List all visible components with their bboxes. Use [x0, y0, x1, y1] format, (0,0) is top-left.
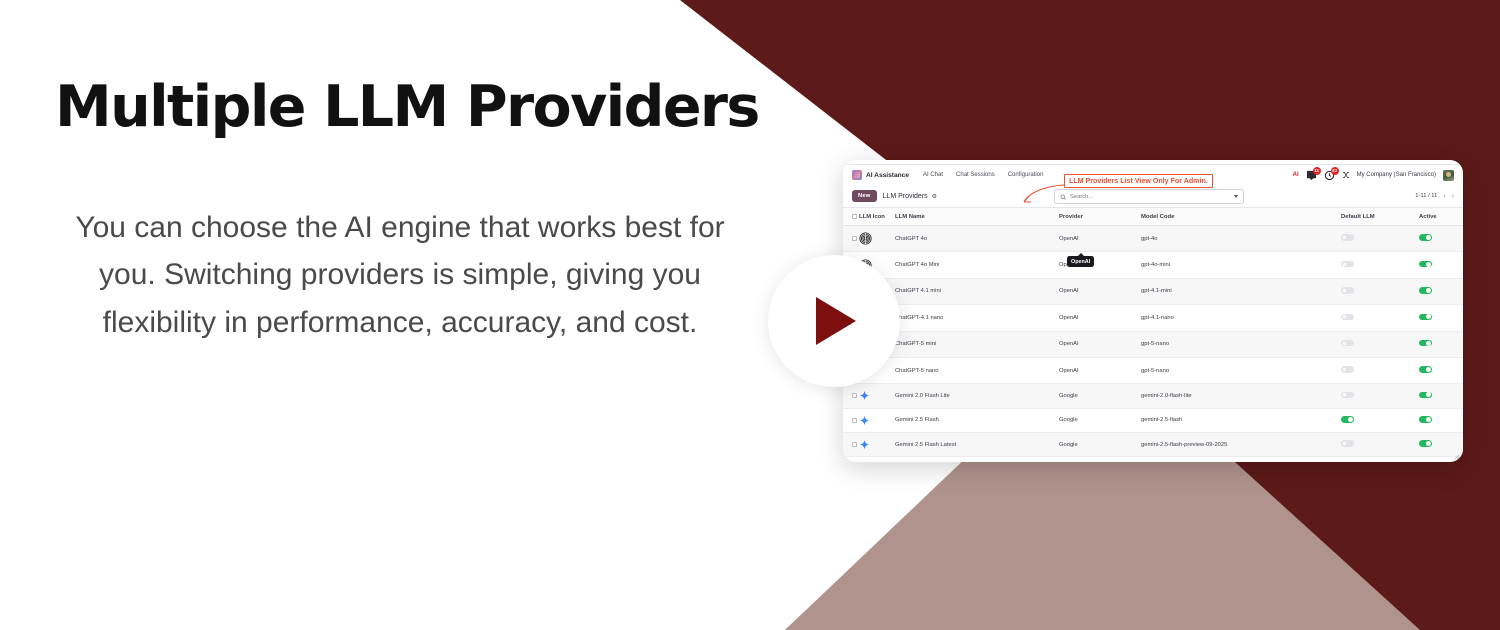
- table-row[interactable]: Gemini 2.0 Flash LiteGooglegemini-2.0-fl…: [843, 384, 1463, 408]
- active-toggle[interactable]: [1419, 366, 1432, 373]
- brand[interactable]: AI Assistance: [852, 170, 909, 180]
- active-toggle[interactable]: [1419, 314, 1432, 321]
- table-header-row: LLM Icon LLM Name Provider Model Code De…: [843, 208, 1463, 226]
- play-icon: [816, 297, 856, 345]
- cell-provider: OpenAI: [1059, 357, 1141, 383]
- messages-count-badge: 11: [1313, 167, 1321, 175]
- cell-llm-icon: [859, 457, 895, 462]
- app-logo-icon: [852, 170, 862, 180]
- table-row[interactable]: Gemini 2.5 Flash LiteGooglegemini-2.5-fl…: [843, 457, 1463, 462]
- pager-count: 1-11 / 11: [1415, 193, 1437, 199]
- main-nav: AI Chat Chat Sessions Configuration: [923, 172, 1043, 178]
- messages-button[interactable]: 11: [1306, 170, 1317, 181]
- cell-llm-name: ChatGPT 4o Mini: [895, 252, 1059, 278]
- nav-item-ai-chat[interactable]: AI Chat: [923, 172, 943, 178]
- cell-llm-name: Gemini 2.5 Flash: [895, 408, 1059, 432]
- chevron-right-icon[interactable]: ›: [1452, 193, 1454, 200]
- cell-provider: Google: [1059, 384, 1141, 408]
- cell-active[interactable]: [1419, 278, 1463, 304]
- search-box[interactable]: [1054, 189, 1244, 204]
- cell-default-llm[interactable]: [1341, 408, 1419, 432]
- cell-provider: OpenAI: [1059, 305, 1141, 331]
- table-row[interactable]: ChatGPT-5 nanoOpenAIgpt-5-nano: [843, 357, 1463, 383]
- search-input[interactable]: [1070, 194, 1230, 200]
- ai-indicator[interactable]: AI: [1293, 172, 1299, 178]
- cell-default-llm[interactable]: [1341, 278, 1419, 304]
- cell-provider: OpenAI: [1059, 226, 1141, 252]
- breadcrumb: LLM Providers ⚙: [883, 193, 938, 200]
- page-title: Multiple LLM Providers: [55, 78, 750, 138]
- cell-llm-name: ChatGPT 4.1 mini: [895, 278, 1059, 304]
- admin-annotation: LLM Providers List View Only For Admin.: [1064, 174, 1213, 188]
- cell-default-llm[interactable]: [1341, 305, 1419, 331]
- cell-active[interactable]: [1419, 305, 1463, 331]
- app-window: AI Assistance AI Chat Chat Sessions Conf…: [843, 160, 1463, 462]
- active-toggle[interactable]: [1419, 261, 1432, 268]
- cell-default-llm[interactable]: [1341, 384, 1419, 408]
- cell-llm-icon: [859, 226, 895, 252]
- default-llm-toggle[interactable]: [1341, 392, 1354, 399]
- nav-item-configuration[interactable]: Configuration: [1008, 172, 1044, 178]
- promo-description: You can choose the AI engine that works …: [55, 204, 745, 346]
- cell-model-code: gemini-2.0-flash-lite: [1141, 384, 1341, 408]
- table-row[interactable]: ChatGPT 4oOpenAIgpt-4o: [843, 226, 1463, 252]
- cell-provider: OpenAI: [1059, 278, 1141, 304]
- nav-item-chat-sessions[interactable]: Chat Sessions: [956, 172, 995, 178]
- header-provider[interactable]: Provider: [1059, 208, 1141, 226]
- cell-default-llm[interactable]: [1341, 331, 1419, 357]
- checkbox-icon[interactable]: [852, 393, 857, 398]
- table-body: ChatGPT 4oOpenAIgpt-4oChatGPT 4o MiniOpe…: [843, 226, 1463, 463]
- row-checkbox[interactable]: [843, 384, 859, 408]
- checkbox-icon[interactable]: [852, 214, 857, 219]
- company-selector[interactable]: My Company (San Francisco): [1357, 172, 1436, 178]
- row-checkbox[interactable]: [843, 408, 859, 432]
- brand-name: AI Assistance: [866, 172, 909, 179]
- cell-model-code: gpt-5-nano: [1141, 331, 1341, 357]
- chevron-down-icon[interactable]: [1234, 195, 1238, 198]
- cell-provider: OpenAI: [1059, 331, 1141, 357]
- openai-logo-icon: [859, 232, 872, 245]
- cell-default-llm[interactable]: [1341, 252, 1419, 278]
- activities-button[interactable]: 42: [1324, 170, 1335, 181]
- resize-handle[interactable]: [1454, 454, 1460, 460]
- cell-llm-name: Gemini 2.0 Flash Lite: [895, 384, 1059, 408]
- default-llm-toggle[interactable]: [1341, 314, 1354, 321]
- cell-llm-name: ChatGPT-5 nano: [895, 357, 1059, 383]
- shuffle-icon[interactable]: [1342, 171, 1350, 179]
- active-toggle[interactable]: [1419, 234, 1432, 241]
- cell-active[interactable]: [1419, 408, 1463, 432]
- checkbox-icon[interactable]: [852, 442, 857, 447]
- active-toggle[interactable]: [1419, 340, 1432, 347]
- play-video-button[interactable]: [768, 255, 900, 387]
- pagination: 1-11 / 11 ‹ ›: [1415, 193, 1454, 200]
- cell-default-llm[interactable]: [1341, 226, 1419, 252]
- cell-provider: Google: [1059, 433, 1141, 457]
- promo-panel: Multiple LLM Providers You can choose th…: [0, 0, 790, 630]
- default-llm-toggle[interactable]: [1341, 287, 1354, 294]
- header-select-all[interactable]: [843, 208, 859, 226]
- cell-default-llm[interactable]: [1341, 433, 1419, 457]
- header-active[interactable]: Active: [1419, 208, 1463, 226]
- llm-providers-table: LLM Icon LLM Name Provider Model Code De…: [843, 207, 1463, 462]
- checkbox-icon[interactable]: [852, 418, 857, 423]
- active-toggle[interactable]: [1419, 287, 1432, 294]
- cell-provider: Google: [1059, 457, 1141, 462]
- gemini-logo-icon: [859, 439, 870, 450]
- table-row[interactable]: Gemini 2.5 Flash LatestGooglegemini-2.5-…: [843, 433, 1463, 457]
- cell-default-llm[interactable]: [1341, 357, 1419, 383]
- cell-model-code: gemini-2.5-flash: [1141, 408, 1341, 432]
- cell-llm-icon: [859, 433, 895, 457]
- active-toggle[interactable]: [1419, 416, 1432, 423]
- cell-model-code: gemini-2.5-flash-lite: [1141, 457, 1341, 462]
- chevron-left-icon[interactable]: ‹: [1443, 193, 1445, 200]
- cell-active[interactable]: [1419, 331, 1463, 357]
- default-llm-toggle[interactable]: [1341, 261, 1354, 268]
- table-row[interactable]: ChatGPT 4.1 miniOpenAIgpt-4.1-mini: [843, 278, 1463, 304]
- row-checkbox[interactable]: [843, 226, 859, 252]
- provider-tooltip: OpenAI: [1067, 256, 1094, 267]
- default-llm-toggle[interactable]: [1341, 234, 1354, 241]
- default-llm-toggle[interactable]: [1341, 440, 1354, 447]
- cell-model-code: gpt-4o: [1141, 226, 1341, 252]
- cell-active[interactable]: [1419, 252, 1463, 278]
- activities-count-badge: 42: [1331, 167, 1339, 175]
- cell-llm-icon: [859, 384, 895, 408]
- checkbox-icon[interactable]: [852, 236, 857, 241]
- header-llm-name[interactable]: LLM Name: [895, 208, 1059, 226]
- cell-llm-name: ChatGPT 4o: [895, 226, 1059, 252]
- table-row[interactable]: ChatGPT-5 miniOpenAIgpt-5-nano: [843, 331, 1463, 357]
- default-llm-toggle[interactable]: [1341, 416, 1354, 423]
- cell-active[interactable]: [1419, 357, 1463, 383]
- cell-llm-name: Gemini 2.5 Flash Latest: [895, 433, 1059, 457]
- cell-llm-name: ChatGPT-5 mini: [895, 331, 1059, 357]
- avatar[interactable]: [1443, 170, 1454, 181]
- control-bar: New LLM Providers ⚙ 1-11 / 11 ‹ ›: [843, 185, 1463, 207]
- table-row[interactable]: Gemini 2.5 FlashGooglegemini-2.5-flash: [843, 408, 1463, 432]
- cell-llm-icon: [859, 408, 895, 432]
- cell-llm-name: Gemini 2.5 Flash Lite: [895, 457, 1059, 462]
- cell-provider: Google: [1059, 408, 1141, 432]
- active-toggle[interactable]: [1419, 392, 1432, 399]
- default-llm-toggle[interactable]: [1341, 366, 1354, 373]
- cell-default-llm[interactable]: [1341, 457, 1419, 462]
- header-model-code[interactable]: Model Code: [1141, 208, 1341, 226]
- cell-active[interactable]: [1419, 226, 1463, 252]
- row-checkbox[interactable]: [843, 433, 859, 457]
- cell-llm-name: ChatGPT-4.1 nano: [895, 305, 1059, 331]
- table-row[interactable]: ChatGPT 4o MiniOpenAIgpt-4o-mini: [843, 252, 1463, 278]
- cell-model-code: gpt-4.1-mini: [1141, 278, 1341, 304]
- table-row[interactable]: ChatGPT-4.1 nanoOpenAIgpt-4.1-nano: [843, 305, 1463, 331]
- topbar-right: AI 11 42 My Company (San Francisco): [1293, 170, 1454, 181]
- default-llm-toggle[interactable]: [1341, 340, 1354, 347]
- cell-model-code: gpt-4.1-nano: [1141, 305, 1341, 331]
- active-toggle[interactable]: [1419, 440, 1432, 447]
- cell-active[interactable]: [1419, 384, 1463, 408]
- cell-model-code: gpt-5-nano: [1141, 357, 1341, 383]
- gear-icon[interactable]: ⚙: [932, 193, 937, 200]
- header-default-llm[interactable]: Default LLM: [1341, 208, 1419, 226]
- breadcrumb-label: LLM Providers: [883, 193, 928, 200]
- header-llm-icon[interactable]: LLM Icon: [859, 208, 895, 226]
- gemini-logo-icon: [859, 415, 870, 426]
- new-button[interactable]: New: [852, 190, 877, 202]
- gemini-logo-icon: [859, 390, 870, 401]
- cell-model-code: gpt-4o-mini: [1141, 252, 1341, 278]
- cell-model-code: gemini-2.5-flash-preview-09-2025: [1141, 433, 1341, 457]
